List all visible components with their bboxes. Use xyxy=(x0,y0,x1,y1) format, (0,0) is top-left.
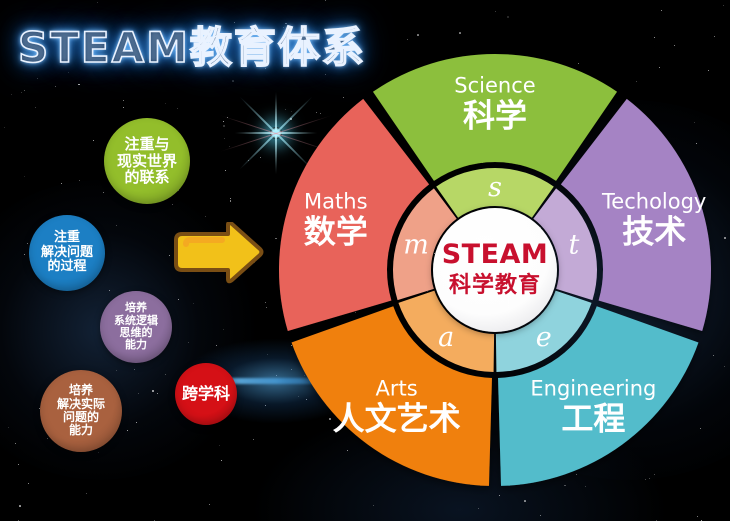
concept-bubble-line: 能力 xyxy=(125,339,147,351)
concept-bubble-line: 跨学科 xyxy=(182,385,230,403)
concept-bubble-line: 注重与 xyxy=(124,136,169,153)
concept-bubble-line: 培养 xyxy=(69,384,93,397)
wheel-label-en-arts: Arts xyxy=(376,376,418,400)
concept-bubble-logic[interactable]: 培养系统逻辑思维的能力 xyxy=(100,291,172,363)
concept-bubble-line: 解决实际 xyxy=(57,398,105,411)
concept-bubble-line: 能力 xyxy=(69,424,93,437)
wheel-ring-letter-science: s xyxy=(488,172,502,203)
wheel-label-zh-engineering: 工程 xyxy=(561,399,625,437)
wheel-label-en-science: Science xyxy=(454,74,535,98)
hub-label-en: STEAM xyxy=(442,239,549,270)
concept-bubble-practical[interactable]: 培养解决实际问题的能力 xyxy=(40,370,122,452)
steam-wheel: steam STEAM 科学教育 Science科学Techology技术Eng… xyxy=(273,48,717,492)
wheel-ring-letter-arts: a xyxy=(438,322,454,353)
hub-label-zh: 科学教育 xyxy=(449,272,541,298)
concept-bubble-process[interactable]: 注重解决问题的过程 xyxy=(29,215,105,291)
wheel-ring-letter-engineering: e xyxy=(536,322,552,353)
wheel-label-zh-maths: 数学 xyxy=(304,212,368,250)
poster-canvas: STEAM教育体系 steam STEAM 科学教育 xyxy=(0,0,730,521)
wheel-label-en-technology: Techology xyxy=(601,189,706,213)
concept-bubble-line: 的过程 xyxy=(47,260,86,275)
concept-bubble-line: 现实世界 xyxy=(117,153,177,170)
flow-arrow-icon xyxy=(172,222,264,289)
wheel-ring-letter-maths: m xyxy=(403,229,429,260)
wheel-label-zh-technology: 技术 xyxy=(622,212,686,250)
concept-bubble-line: 的联系 xyxy=(124,169,169,186)
wheel-label-zh-science: 科学 xyxy=(463,97,527,135)
wheel-ring-letter-technology: t xyxy=(568,229,579,260)
wheel-label-zh-arts: 人文艺术 xyxy=(333,399,461,437)
wheel-label-en-engineering: Engineering xyxy=(530,376,656,400)
concept-bubble-real-world[interactable]: 注重与现实世界的联系 xyxy=(104,118,190,204)
wheel-label-en-maths: Maths xyxy=(304,189,367,213)
hub-circle xyxy=(433,208,557,332)
concept-bubble-line: 注重 xyxy=(54,231,80,246)
concept-bubble-interdisciplinary[interactable]: 跨学科 xyxy=(175,363,237,425)
concept-bubble-line: 培养 xyxy=(125,302,147,314)
